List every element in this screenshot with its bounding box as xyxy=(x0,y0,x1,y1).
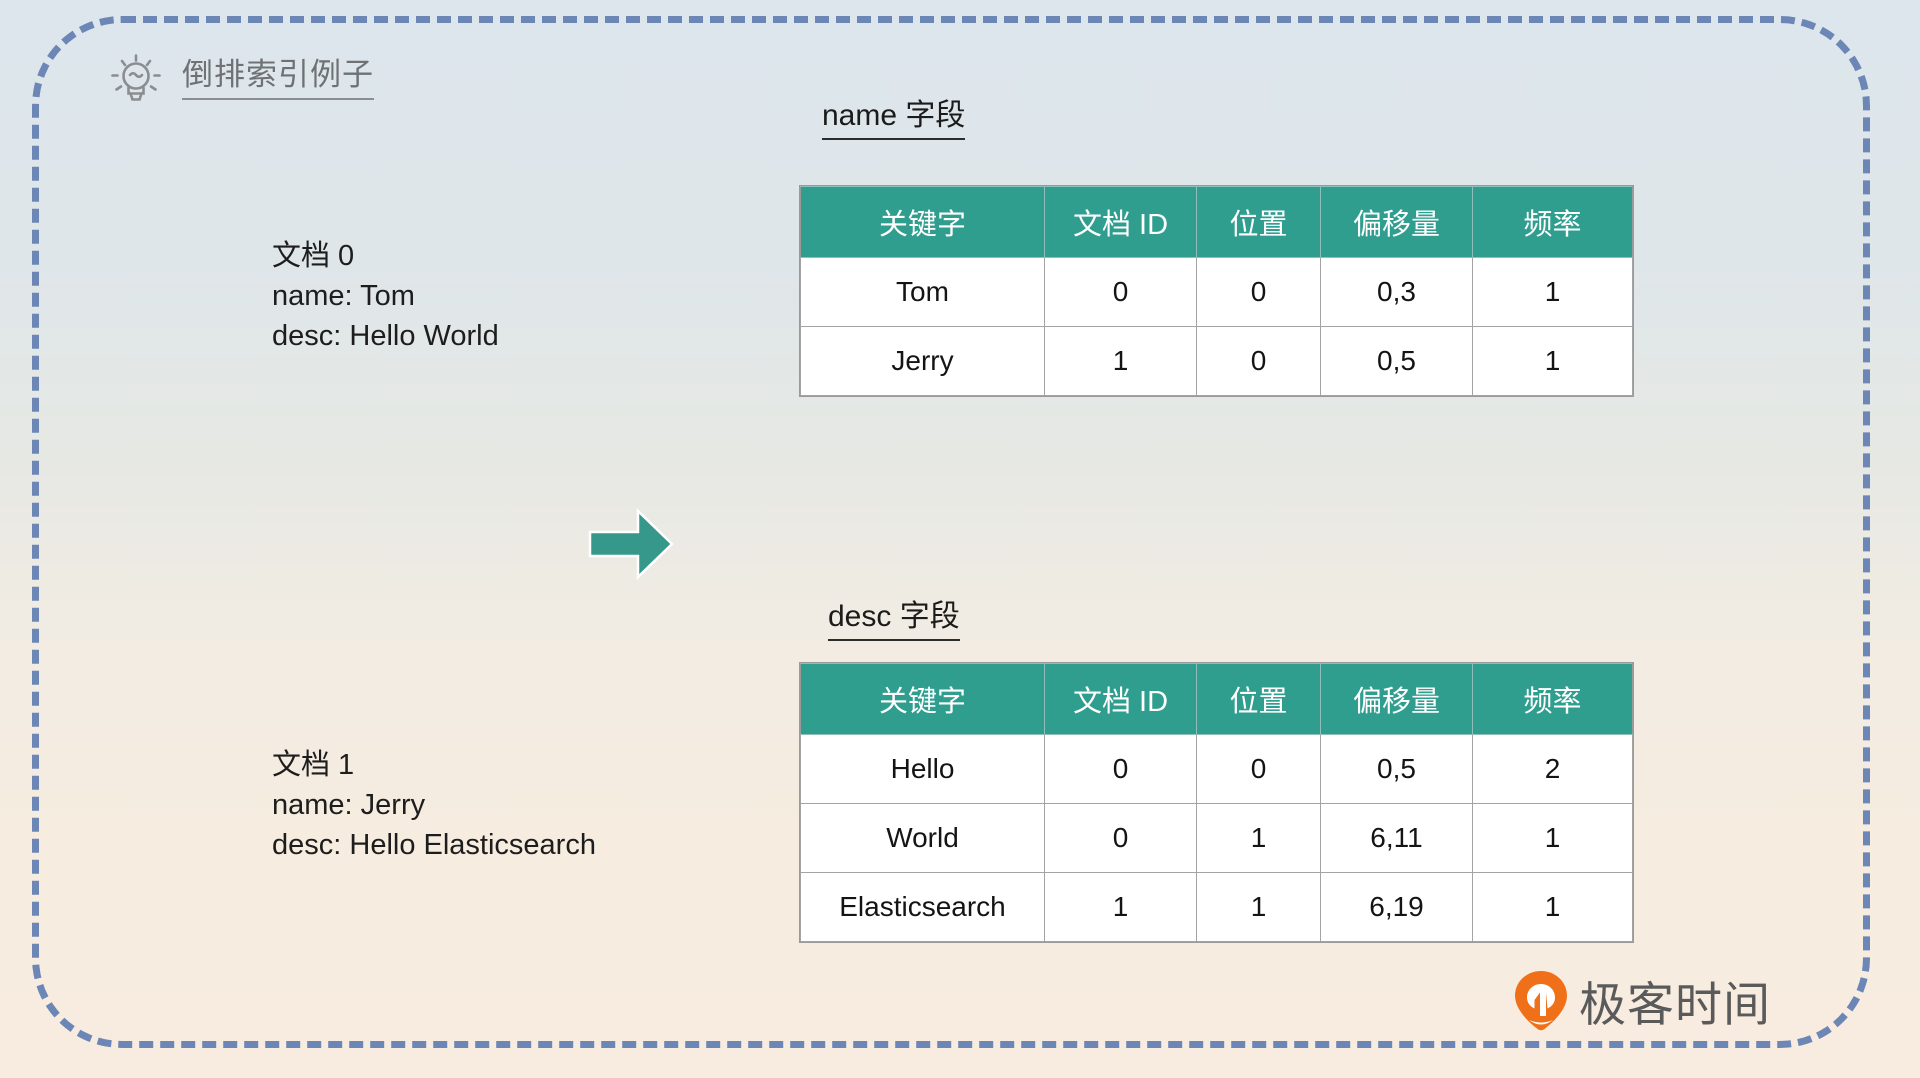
brand-name: 极客时间 xyxy=(1579,966,1771,1035)
cell-keyword: World xyxy=(801,804,1045,873)
cell-offset: 6,19 xyxy=(1321,873,1473,942)
column-header-position: 位置 xyxy=(1197,664,1321,735)
cell-keyword: Jerry xyxy=(801,327,1045,396)
column-header-keyword: 关键字 xyxy=(801,187,1045,258)
column-header-position: 位置 xyxy=(1197,187,1321,258)
cell-docid: 1 xyxy=(1045,873,1197,942)
document-name-line: name: Tom xyxy=(272,276,499,316)
geektime-pin-icon xyxy=(1513,970,1569,1032)
cell-position: 0 xyxy=(1197,327,1321,396)
header: 倒排索引例子 xyxy=(108,50,374,108)
table-row: Tom 0 0 0,3 1 xyxy=(801,258,1633,327)
cell-docid: 1 xyxy=(1045,327,1197,396)
column-header-offset: 偏移量 xyxy=(1321,187,1473,258)
column-header-frequency: 频率 xyxy=(1473,187,1633,258)
table-row: Hello 0 0 0,5 2 xyxy=(801,735,1633,804)
cell-keyword: Hello xyxy=(801,735,1045,804)
cell-offset: 0,5 xyxy=(1321,327,1473,396)
table-header-row: 关键字 文档 ID 位置 偏移量 频率 xyxy=(801,187,1633,258)
document-block-0: 文档 0 name: Tom desc: Hello World xyxy=(272,236,499,356)
table-row: Jerry 1 0 0,5 1 xyxy=(801,327,1633,396)
table-row: Elasticsearch 1 1 6,19 1 xyxy=(801,873,1633,942)
document-id-label: 文档 1 xyxy=(272,745,596,785)
cell-position: 1 xyxy=(1197,873,1321,942)
document-block-1: 文档 1 name: Jerry desc: Hello Elasticsear… xyxy=(272,745,596,865)
lightbulb-icon xyxy=(108,50,164,108)
brand-logo: 极客时间 xyxy=(1513,966,1771,1035)
cell-frequency: 1 xyxy=(1473,804,1633,873)
cell-docid: 0 xyxy=(1045,804,1197,873)
cell-keyword: Elasticsearch xyxy=(801,873,1045,942)
cell-frequency: 1 xyxy=(1473,873,1633,942)
cell-frequency: 1 xyxy=(1473,327,1633,396)
cell-frequency: 1 xyxy=(1473,258,1633,327)
document-id-label: 文档 0 xyxy=(272,236,499,276)
table-caption-desc: desc 字段 xyxy=(828,591,960,641)
column-header-offset: 偏移量 xyxy=(1321,664,1473,735)
column-header-frequency: 频率 xyxy=(1473,664,1633,735)
document-name-line: name: Jerry xyxy=(272,785,596,825)
cell-offset: 0,5 xyxy=(1321,735,1473,804)
column-header-docid: 文档 ID xyxy=(1045,187,1197,258)
cell-frequency: 2 xyxy=(1473,735,1633,804)
cell-offset: 6,11 xyxy=(1321,804,1473,873)
page-title: 倒排索引例子 xyxy=(182,58,374,99)
cell-docid: 0 xyxy=(1045,735,1197,804)
document-desc-line: desc: Hello World xyxy=(272,316,499,356)
document-desc-line: desc: Hello Elasticsearch xyxy=(272,825,596,865)
inverted-index-table-name: 关键字 文档 ID 位置 偏移量 频率 Tom 0 0 0,3 1 Jerry … xyxy=(800,186,1633,396)
table-caption-name: name 字段 xyxy=(822,90,965,140)
column-header-docid: 文档 ID xyxy=(1045,664,1197,735)
cell-offset: 0,3 xyxy=(1321,258,1473,327)
slide-canvas: 倒排索引例子 文档 0 name: Tom desc: Hello World … xyxy=(0,0,1920,1078)
cell-position: 0 xyxy=(1197,258,1321,327)
cell-keyword: Tom xyxy=(801,258,1045,327)
cell-position: 1 xyxy=(1197,804,1321,873)
table-header-row: 关键字 文档 ID 位置 偏移量 频率 xyxy=(801,664,1633,735)
column-header-keyword: 关键字 xyxy=(801,664,1045,735)
table-row: World 0 1 6,11 1 xyxy=(801,804,1633,873)
cell-position: 0 xyxy=(1197,735,1321,804)
cell-docid: 0 xyxy=(1045,258,1197,327)
inverted-index-table-desc: 关键字 文档 ID 位置 偏移量 频率 Hello 0 0 0,5 2 Worl… xyxy=(800,663,1633,942)
